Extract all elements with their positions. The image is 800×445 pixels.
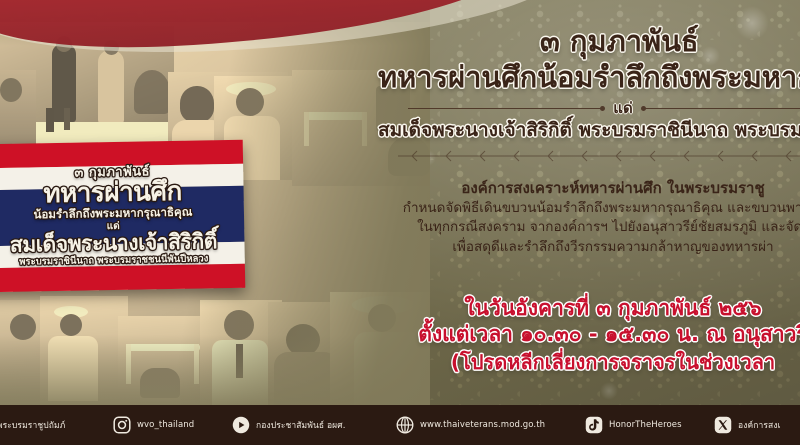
event-time-location-line: ตั้งแต่เวลา ๑๐.๓๐ - ๑๕.๓๐ น. ณ อนุสาวรี (378, 322, 800, 348)
instagram-icon (113, 416, 131, 434)
tiktok-label: HonorTheHeroes (609, 420, 682, 430)
x-label: องค์การสงเ (738, 418, 781, 432)
youtube-icon (232, 416, 250, 434)
website-label: www.thaiveterans.mod.go.th (420, 420, 545, 430)
body-line-3: ในทุกกรณีสงคราม จากองค์การฯ ไปยังอนุสาวร… (378, 218, 800, 237)
heading-main: ทหารผ่านศึกน้อมรำลึกถึงพระมหากรุ (378, 54, 800, 100)
footer-instagram[interactable]: wvo_thailand (113, 416, 194, 434)
traffic-notice-line: (โปรดหลีกเลี่ยงการจราจรในช่วงเวลา (378, 347, 800, 377)
banner-line-royal-title: พระบรมราชินีนาถ พระบรมราชชนนีพันปีหลวง (19, 255, 208, 268)
youtube-label: กองประชาสัมพันธ์ อผศ. (256, 418, 346, 432)
footer-facebook[interactable]: ศึกในพระบรมราชูปถัมภ์ (0, 416, 65, 434)
instagram-label: wvo_thailand (137, 420, 194, 430)
footer-tiktok[interactable]: HonorTheHeroes (585, 416, 682, 434)
tiktok-icon (585, 416, 603, 434)
heading-royal-name: สมเด็จพระนางเจ้าสิริกิติ์ พระบรมราชินีนา… (378, 115, 800, 145)
event-details-highlight: ในวันอังคารที่ ๓ กุมภาพันธ์ ๒๕๖ ตั้งแต่เ… (378, 296, 800, 377)
banner-line-title: ทหารผ่านศึก (43, 179, 182, 207)
banner-line-subtitle: น้อมรำลึกถึงพระมหากรุณาธิคุณ (33, 207, 192, 221)
body-line-4: เพื่อสดุดีและรำลึกถึงวีรกรรมความกล้าหาญข… (378, 238, 800, 257)
event-date-line: ในวันอังคารที่ ๓ กุมภาพันธ์ ๒๕๖ (378, 296, 800, 322)
footer-youtube[interactable]: กองประชาสัมพันธ์ อผศ. (232, 416, 346, 434)
social-media-footer: ศึกในพระบรมราชูปถัมภ์ wvo_thailand กองปร… (0, 405, 800, 445)
footer-website[interactable]: www.thaiveterans.mod.go.th (396, 416, 545, 434)
thorn-ornament-icon (398, 150, 800, 162)
banner-line-royal-name: สมเด็จพระนางเจ้าสิริกิติ์ (10, 231, 217, 256)
divider-line-left (408, 108, 604, 109)
divider-line-right (642, 108, 800, 109)
footer-x-twitter[interactable]: องค์การสงเ (714, 416, 781, 434)
body-line-1: องค์การสงเคราะห์ทหารผ่านศึก ในพระบรมราชู (378, 178, 800, 199)
x-twitter-icon (714, 416, 732, 434)
poster-content-column: ๓ กุมภาพันธ์ ทหารผ่านศึกน้อมรำลึกถึงพระม… (378, 0, 800, 405)
body-paragraph: องค์การสงเคราะห์ทหารผ่านศึก ในพระบรมราชู… (378, 178, 800, 257)
body-line-2: กำหนดจัดพิธีเดินขบวนน้อมรำลึกถึงพระมหากร… (378, 199, 800, 218)
facebook-label: ศึกในพระบรมราชูปถัมภ์ (0, 418, 65, 432)
globe-icon (396, 416, 414, 434)
thai-flag-banner: ๓ กุมภาพันธ์ ทหารผ่านศึก น้อมรำลึกถึงพระ… (0, 140, 245, 293)
banner-text-block: ๓ กุมภาพันธ์ ทหารผ่านศึก น้อมรำลึกถึงพระ… (0, 140, 245, 293)
poster-canvas: ๓ กุมภาพันธ์ ทหารผ่านศึก น้อมรำลึกถึงพระ… (0, 0, 800, 445)
